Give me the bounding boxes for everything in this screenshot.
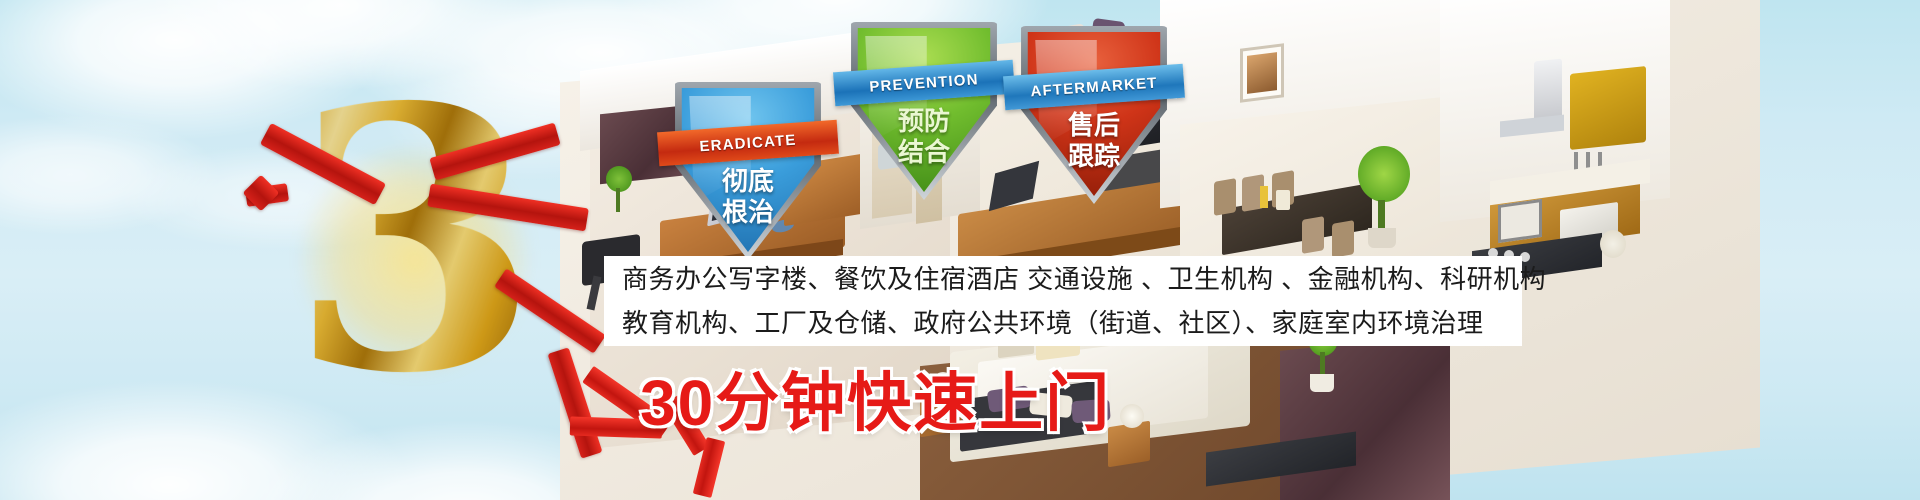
gold-three-numeral: 3: [250, 61, 580, 421]
shield-banner-label: AFTERMARKET: [1030, 74, 1158, 100]
headline-text: 30分钟快速上门: [640, 352, 1111, 444]
promo-banner: 3 ERADICATE 彻底 根治 PREVENTION: [0, 0, 1920, 500]
shield-chinese-line2: 跟踪: [1018, 141, 1170, 172]
shield-badge-eradicate: ERADICATE 彻底 根治: [672, 82, 824, 260]
shield-chinese-label: 彻底 根治: [672, 166, 824, 227]
shield-banner-label: ERADICATE: [699, 131, 797, 155]
shield-chinese-label: 售后 跟踪: [1018, 110, 1170, 171]
shield-chinese-line1: 彻底: [672, 166, 824, 197]
service-scope-line-2: 教育机构、工厂及仓储、政府公共环境（街道、社区）、家庭室内环境治理: [622, 301, 1504, 345]
shield-badge-prevention: PREVENTION 预防 结合: [848, 22, 1000, 200]
shield-chinese-line2: 结合: [848, 137, 1000, 168]
cloud: [0, 115, 220, 235]
shield-banner-label: PREVENTION: [869, 71, 979, 96]
service-scope-line-1: 商务办公写字楼、餐饮及住宿酒店 交通设施 、卫生机构 、金融机构、科研机构: [622, 257, 1504, 301]
shield-chinese-label: 预防 结合: [848, 106, 1000, 167]
shield-badge-aftermarket: AFTERMARKET 售后 跟踪: [1018, 26, 1170, 204]
service-scope-panel: 商务办公写字楼、餐饮及住宿酒店 交通设施 、卫生机构 、金融机构、科研机构 教育…: [604, 256, 1522, 346]
shield-chinese-line2: 根治: [672, 197, 824, 228]
shield-chinese-line1: 预防: [848, 106, 1000, 137]
shield-chinese-line1: 售后: [1018, 110, 1170, 141]
